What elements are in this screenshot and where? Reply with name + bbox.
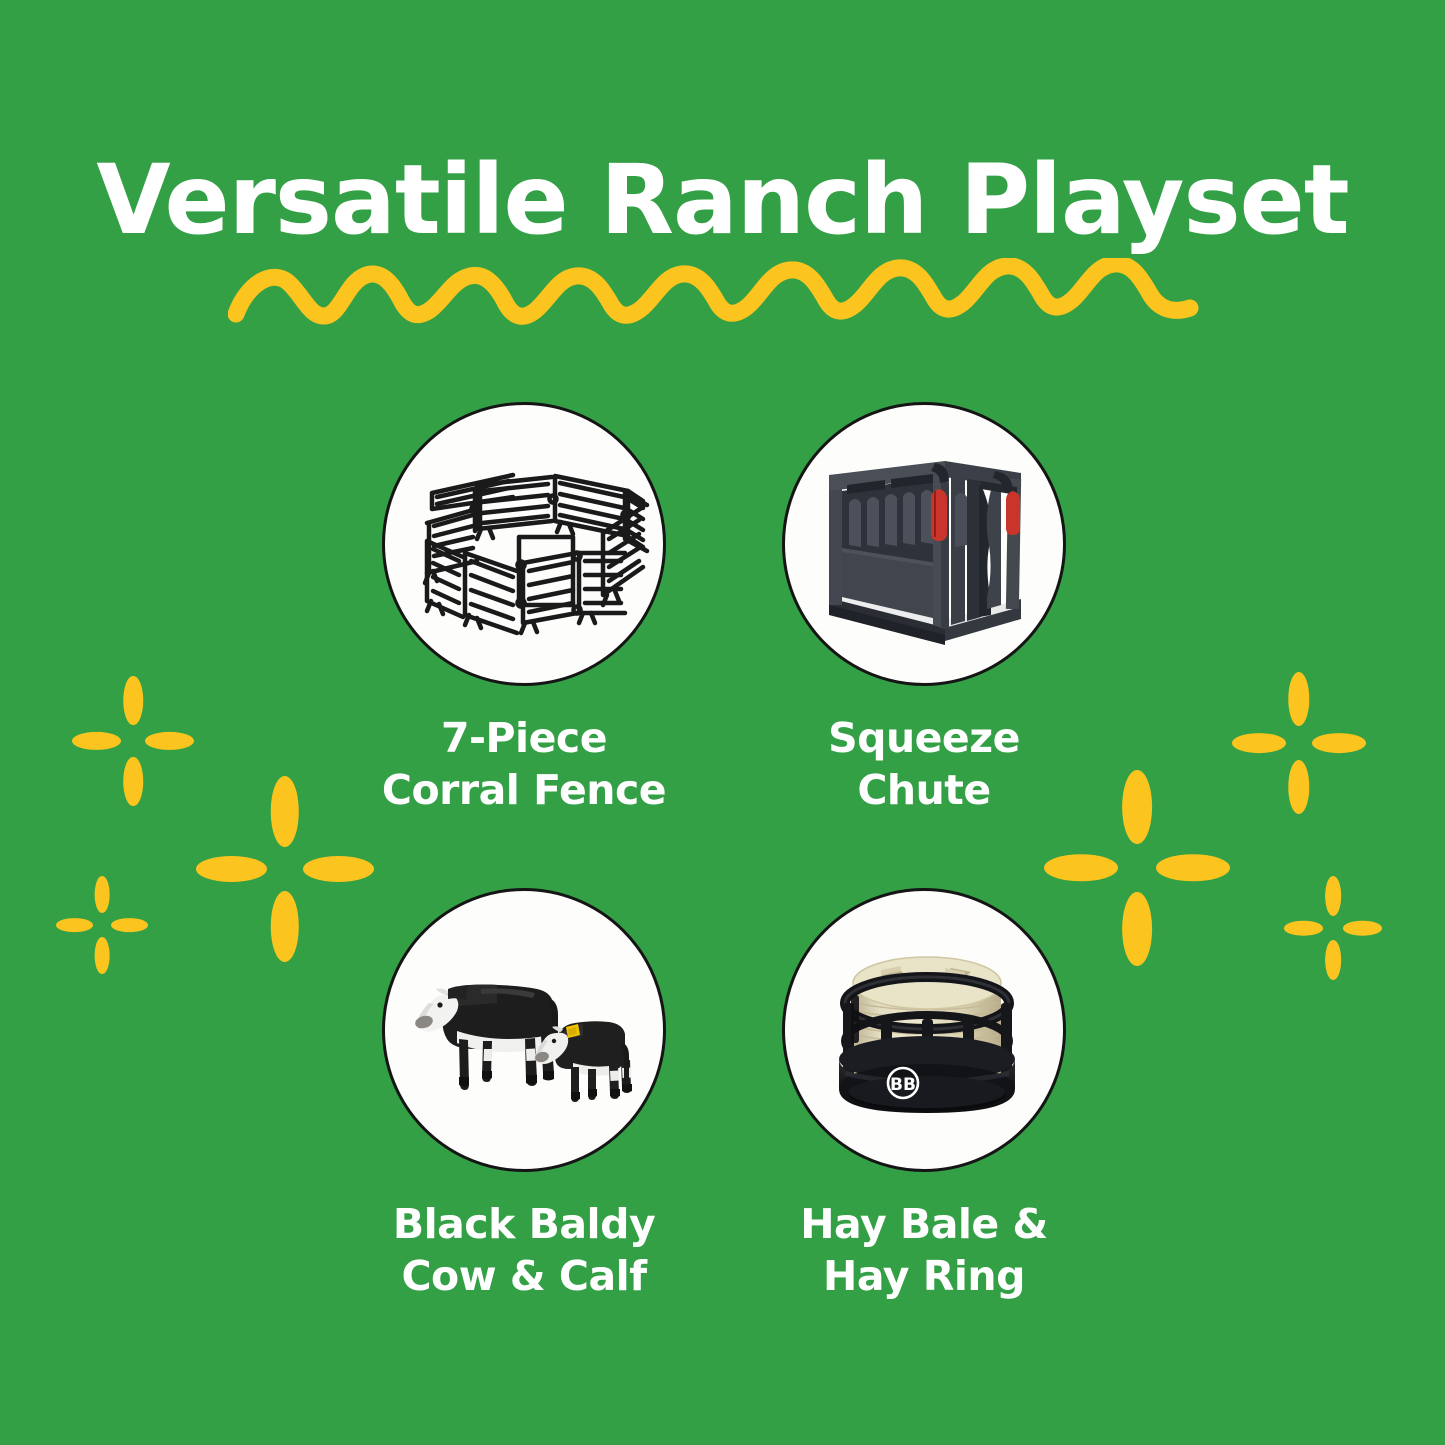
sparkle-ray-up bbox=[1288, 672, 1309, 726]
sparkle-left-small bbox=[56, 876, 148, 974]
feature-label-line-1: Squeeze bbox=[754, 712, 1094, 764]
wavy-squiggle-icon bbox=[228, 258, 1218, 328]
sparkle-ray-right bbox=[1343, 921, 1382, 936]
sparkle-ray-down bbox=[1325, 940, 1341, 980]
feature-circle bbox=[382, 888, 666, 1172]
hay-bale-ring-icon: BB bbox=[785, 891, 1066, 1172]
feature-label-line-1: 7-Piece bbox=[354, 712, 694, 764]
sparkle-ray-up bbox=[1122, 770, 1152, 844]
feature-label: Squeeze Chute bbox=[754, 712, 1094, 816]
sparkle-ray-right bbox=[1312, 733, 1366, 753]
feature-label-line-2: Cow & Calf bbox=[354, 1250, 694, 1302]
sparkle-ray-right bbox=[145, 732, 194, 750]
feature-label-line-2: Hay Ring bbox=[754, 1250, 1094, 1302]
feature-label-line-2: Chute bbox=[754, 764, 1094, 816]
feature-label-line-1: Hay Bale & bbox=[754, 1198, 1094, 1250]
feature-label: Black Baldy Cow & Calf bbox=[354, 1198, 694, 1302]
sparkle-ray-down bbox=[271, 891, 299, 962]
poster-canvas: Versatile Ranch Playset bbox=[0, 0, 1445, 1445]
cow-and-calf-icon bbox=[385, 891, 666, 1172]
sparkle-ray-down bbox=[123, 757, 143, 806]
feature-circle bbox=[782, 402, 1066, 686]
sparkle-ray-right bbox=[303, 856, 374, 882]
squeeze-chute-icon bbox=[785, 405, 1066, 686]
feature-circle bbox=[382, 402, 666, 686]
sparkle-left-large bbox=[72, 676, 194, 806]
feature-black-baldy-cow-calf: Black Baldy Cow & Calf bbox=[354, 888, 694, 1302]
feature-label-line-2: Corral Fence bbox=[354, 764, 694, 816]
sparkle-ray-right bbox=[1156, 854, 1230, 881]
corral-fence-icon bbox=[385, 405, 666, 686]
sparkle-ray-down bbox=[1288, 760, 1309, 814]
sparkle-ray-up bbox=[123, 676, 143, 725]
sparkle-right-small bbox=[1284, 876, 1382, 980]
sparkle-ray-left bbox=[1044, 854, 1118, 881]
sparkle-ray-left bbox=[1232, 733, 1286, 753]
feature-label-line-1: Black Baldy bbox=[354, 1198, 694, 1250]
sparkle-ray-up bbox=[1325, 876, 1341, 916]
sparkle-ray-left bbox=[72, 732, 121, 750]
sparkle-ray-up bbox=[271, 776, 299, 847]
feature-corral-fence: 7-Piece Corral Fence bbox=[354, 402, 694, 816]
feature-squeeze-chute: Squeeze Chute bbox=[754, 402, 1094, 816]
sparkle-ray-left bbox=[196, 856, 267, 882]
sparkle-ray-left bbox=[56, 918, 93, 932]
sparkle-left-medium bbox=[196, 776, 374, 962]
brand-logo-text: BB bbox=[890, 1075, 916, 1095]
sparkle-right-medium bbox=[1232, 672, 1366, 814]
feature-hay-bale-hay-ring: BB Hay Bale & Hay Ring bbox=[754, 888, 1094, 1302]
sparkle-ray-down bbox=[1122, 892, 1152, 966]
feature-label: 7-Piece Corral Fence bbox=[354, 712, 694, 816]
sparkle-ray-left bbox=[1284, 921, 1323, 936]
sparkle-ray-down bbox=[95, 937, 110, 974]
feature-label: Hay Bale & Hay Ring bbox=[754, 1198, 1094, 1302]
page-title: Versatile Ranch Playset bbox=[0, 148, 1445, 252]
feature-circle: BB bbox=[782, 888, 1066, 1172]
sparkle-ray-up bbox=[95, 876, 110, 913]
sparkle-ray-right bbox=[111, 918, 148, 932]
